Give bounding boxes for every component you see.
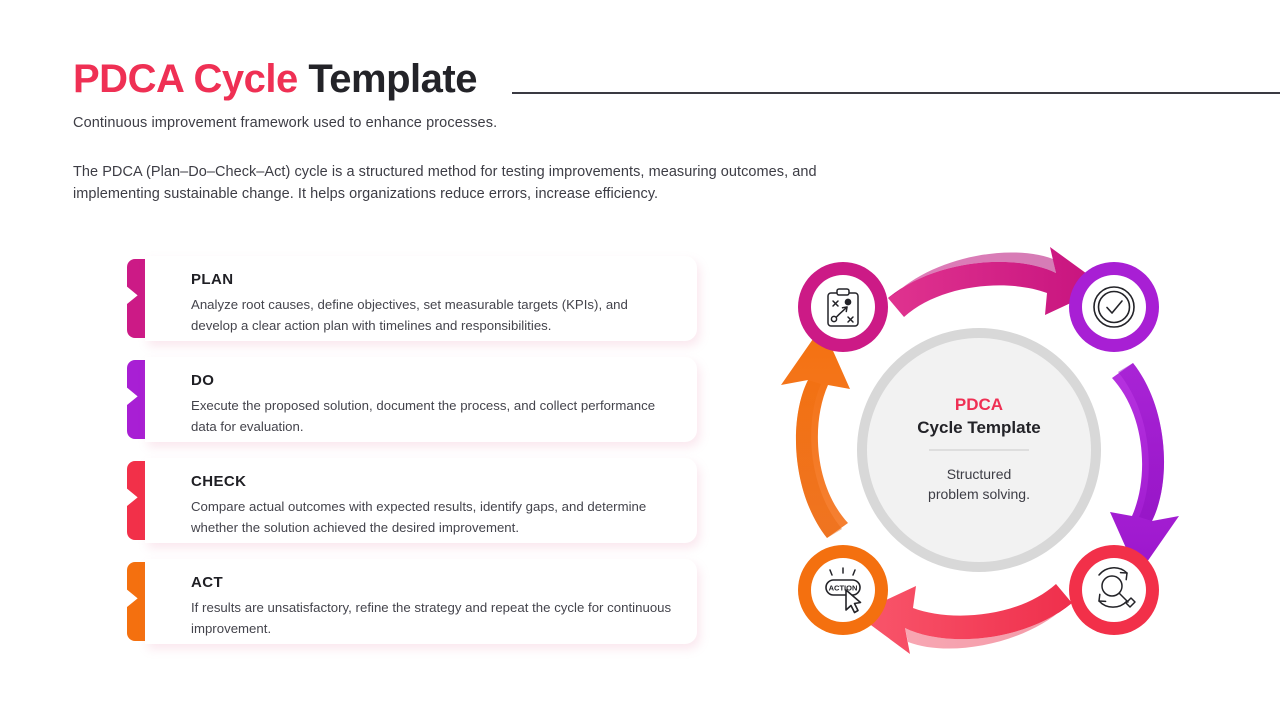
step-card-act[interactable]: ACT If results are unsatisfactory, refin…	[145, 559, 697, 644]
cycle-arrow-left	[781, 326, 850, 538]
cycle-arrow-right	[1110, 363, 1179, 575]
step-title: DO	[191, 372, 677, 389]
page-intro-paragraph: The PDCA (Plan–Do–Check–Act) cycle is a …	[73, 161, 863, 205]
step-title: PLAN	[191, 271, 677, 288]
center-subtitle-line1: Structured	[947, 466, 1012, 482]
step-title: CHECK	[191, 473, 677, 490]
step-description: If results are unsatisfactory, refine th…	[191, 597, 677, 639]
cycle-node-act[interactable]: ACTION	[798, 545, 888, 635]
list-item[interactable]: CHECK Compare actual outcomes with expec…	[127, 458, 697, 543]
step-card-do[interactable]: DO Execute the proposed solution, docume…	[145, 357, 697, 442]
page-title: PDCA Cycle Template	[73, 52, 477, 106]
step-description: Execute the proposed solution, document …	[191, 395, 677, 437]
list-item[interactable]: DO Execute the proposed solution, docume…	[127, 357, 697, 442]
step-description: Compare actual outcomes with expected re…	[191, 496, 677, 538]
step-description: Analyze root causes, define objectives, …	[191, 294, 677, 336]
pdca-cycle-diagram: ACTION PDCA Cycle Template Structured pr…	[760, 235, 1200, 665]
step-card-plan[interactable]: PLAN Analyze root causes, define objecti…	[145, 256, 697, 341]
center-title-pdca: PDCA	[955, 395, 1003, 414]
list-item[interactable]: PLAN Analyze root causes, define objecti…	[127, 256, 697, 341]
step-title: ACT	[191, 574, 677, 591]
cycle-node-plan[interactable]	[798, 262, 888, 352]
page-subtitle: Continuous improvement framework used to…	[73, 115, 497, 131]
cycle-node-check[interactable]	[1069, 545, 1159, 635]
action-button-label: ACTION	[829, 584, 858, 593]
center-title-main: Cycle Template	[917, 418, 1040, 437]
cycle-node-do[interactable]	[1069, 262, 1159, 352]
cycle-arrow-bottom	[856, 584, 1072, 654]
step-card-check[interactable]: CHECK Compare actual outcomes with expec…	[145, 458, 697, 543]
page-title-accent: PDCA Cycle	[73, 57, 298, 101]
page-header: PDCA Cycle Template	[73, 52, 1280, 112]
pdca-step-card-list: PLAN Analyze root causes, define objecti…	[127, 256, 697, 660]
center-subtitle-line2: problem solving.	[928, 486, 1030, 502]
page-title-rest: Template	[298, 57, 477, 101]
title-divider-rule	[512, 92, 1280, 94]
list-item[interactable]: ACT If results are unsatisfactory, refin…	[127, 559, 697, 644]
